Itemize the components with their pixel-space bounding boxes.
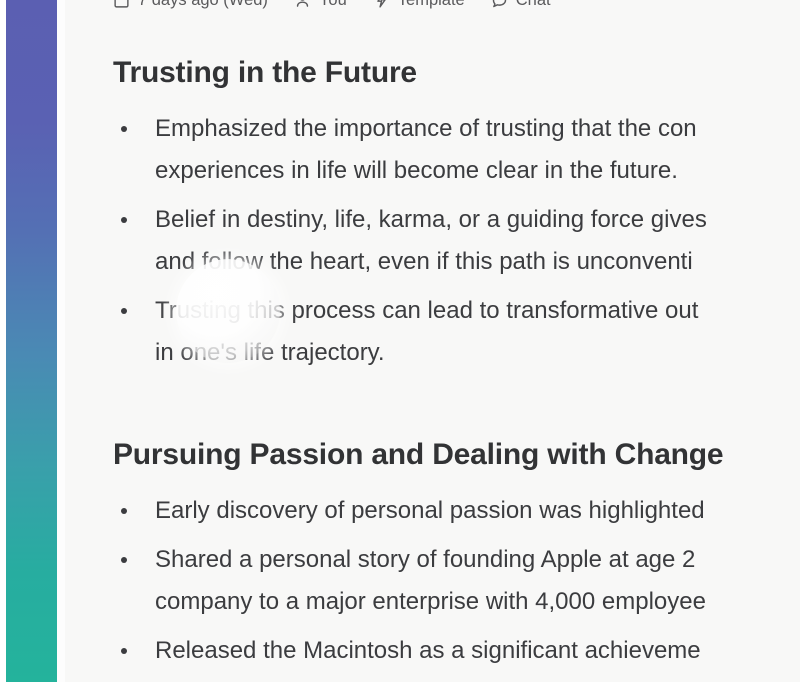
bullet-list-trusting-in-the-future: Emphasized the importance of trusting th…	[113, 108, 800, 374]
gradient-sidebar	[6, 0, 57, 682]
list-item: Emphasized the importance of trusting th…	[113, 108, 800, 150]
meta-item-chat-label: Chat	[516, 0, 551, 8]
list-item-text: company to a major enterprise with 4,000…	[113, 581, 800, 623]
list-item-text: Emphasized the importance of trusting th…	[113, 108, 800, 150]
list-item-text: and follow the heart, even if this path …	[113, 241, 800, 283]
person-icon	[294, 0, 311, 9]
bullet-dot-icon	[121, 648, 127, 654]
list-item: Belief in destiny, life, karma, or a gui…	[113, 199, 800, 241]
meta-item-template-label: Template	[398, 0, 465, 8]
chat-icon	[491, 0, 508, 9]
list-item-text: Released the Macintosh as a significant …	[113, 630, 800, 672]
list-item: Shared a personal story of founding Appl…	[113, 539, 800, 581]
section-heading-pursuing-passion-and-dealing-with-change: Pursuing Passion and Dealing with Change	[113, 437, 723, 472]
screen-root: 7 days ago (Wed) You Template	[0, 0, 800, 682]
template-icon	[373, 0, 390, 9]
bullet-list-pursuing-passion: Early discovery of personal passion was …	[113, 490, 800, 672]
list-item-continuation: and follow the heart, even if this path …	[113, 241, 800, 283]
meta-item-author[interactable]: You	[294, 0, 347, 9]
document-meta-bar: 7 days ago (Wed) You Template	[113, 0, 551, 14]
meta-item-date-label: 7 days ago (Wed)	[138, 0, 268, 8]
list-item-text: in one's life trajectory.	[113, 332, 800, 374]
list-item-text: Belief in destiny, life, karma, or a gui…	[113, 199, 800, 241]
calendar-icon	[113, 0, 130, 9]
bullet-dot-icon	[121, 126, 127, 132]
list-item-text: Shared a personal story of founding Appl…	[113, 539, 800, 581]
meta-item-template[interactable]: Template	[373, 0, 465, 9]
meta-item-author-label: You	[319, 0, 347, 8]
list-item: Released the Macintosh as a significant …	[113, 630, 800, 672]
bullet-dot-icon	[121, 217, 127, 223]
bullet-dot-icon	[121, 308, 127, 314]
bullet-dot-icon	[121, 508, 127, 514]
list-item: Early discovery of personal passion was …	[113, 490, 800, 532]
section-heading-trusting-in-the-future: Trusting in the Future	[113, 55, 417, 90]
list-item: Trusting this process can lead to transf…	[113, 290, 800, 332]
list-item-text: Early discovery of personal passion was …	[113, 490, 800, 532]
list-item-text: Trusting this process can lead to transf…	[113, 290, 800, 332]
rail-right-margin	[57, 0, 65, 682]
meta-item-date[interactable]: 7 days ago (Wed)	[113, 0, 268, 9]
list-item-continuation: experiences in life will become clear in…	[113, 150, 800, 192]
meta-item-chat[interactable]: Chat	[491, 0, 551, 9]
list-item-text: experiences in life will become clear in…	[113, 150, 800, 192]
list-item-continuation: in one's life trajectory.	[113, 332, 800, 374]
list-item-continuation: company to a major enterprise with 4,000…	[113, 581, 800, 623]
bullet-dot-icon	[121, 557, 127, 563]
document-panel: 7 days ago (Wed) You Template	[65, 0, 800, 682]
